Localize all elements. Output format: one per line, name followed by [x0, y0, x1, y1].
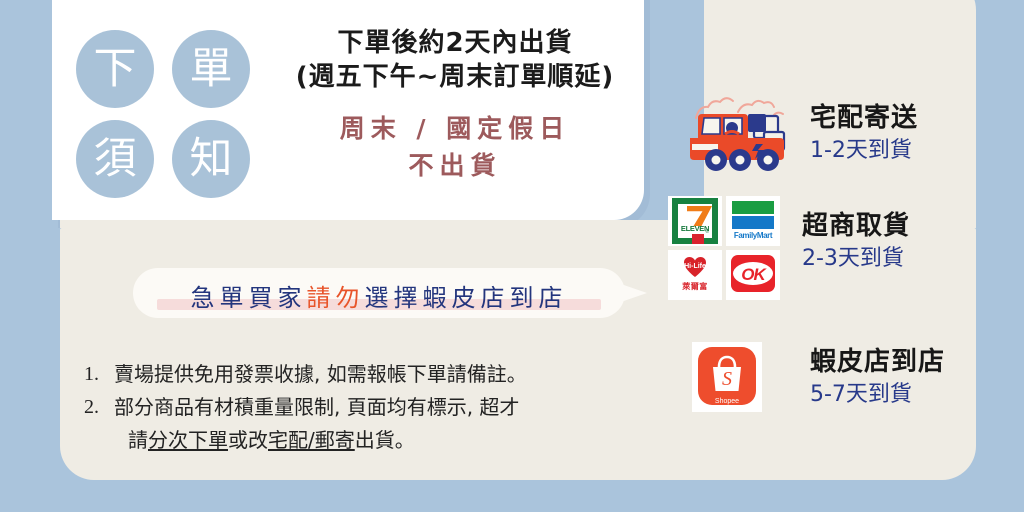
familymart-logo: FamilyMart	[726, 196, 780, 246]
okmart-wordmark: OK	[731, 265, 775, 285]
note-item-2: 2. 部分商品有材積重量限制, 頁面均有標示, 超才	[84, 391, 644, 424]
warning-line-1: 周末 / 國定假日	[280, 110, 630, 147]
okmart-logo: OK	[726, 250, 780, 300]
familymart-blue-bar	[732, 216, 774, 229]
note2-cont-middle: 或改	[228, 428, 268, 452]
badge-character-2: 單	[172, 30, 250, 108]
order-notes-list: 1. 賣場提供免用發票收據, 如需報帳下單請備註。 2. 部分商品有材積重量限制…	[84, 358, 644, 457]
note2-link-home-delivery[interactable]: 宅配/郵寄	[268, 428, 355, 452]
banner-text-before: 急單買家	[191, 284, 307, 312]
shopee-pickup-text: 蝦皮店到店 5-7天到貨	[810, 346, 945, 410]
home-delivery-title: 宅配寄送	[810, 102, 918, 135]
banner-text: 急單買家請勿選擇蝦皮店到店	[133, 278, 625, 313]
note-text-2-continued: 請分次下單或改宅配/郵寄出貨。	[128, 424, 644, 457]
warning-line-2: 不出貨	[280, 147, 630, 184]
badge-character-4: 知	[172, 120, 250, 198]
familymart-wordmark: FamilyMart	[726, 231, 780, 240]
home-delivery-eta: 1-2天到貨	[810, 135, 918, 166]
hilife-chinese-name: 萊爾富	[668, 281, 722, 292]
badge-character-1: 下	[76, 30, 154, 108]
badge-character-3: 須	[76, 120, 154, 198]
note2-cont-suffix: 出貨。	[355, 428, 415, 452]
headline-line-2: (週五下午~周末訂單順延)	[280, 60, 630, 94]
store-pickup-text: 超商取貨 2-3天到貨	[802, 210, 910, 274]
seven-eleven-red-foot	[692, 234, 704, 244]
beige-card-left-extension	[60, 220, 704, 228]
order-notice-badges: 下 單 須 知	[76, 30, 270, 190]
headline-line-1: 下單後約2天內出貨	[280, 26, 630, 60]
seven-eleven-registered-mark: ®	[705, 229, 709, 235]
shipping-option-home-delivery: 宅配寄送 1-2天到貨	[676, 88, 918, 180]
hilife-logo: Hi-Life 萊爾富	[668, 250, 722, 300]
svg-text:S: S	[722, 368, 732, 390]
store-logo-grid: ELEVEN ® FamilyMart Hi-Life 萊爾富	[668, 196, 784, 304]
holiday-warning: 周末 / 國定假日 不出貨	[280, 110, 630, 184]
banner-text-emphasis: 請勿	[307, 284, 365, 312]
shipping-option-store-pickup: ELEVEN ® FamilyMart Hi-Life 萊爾富	[668, 196, 910, 288]
okmart-red-square: OK	[731, 255, 775, 292]
note-text-1: 賣場提供免用發票收據, 如需報帳下單請備註。	[114, 358, 644, 391]
note2-cont-prefix: 請	[128, 428, 148, 452]
note2-link-split-order[interactable]: 分次下單	[148, 428, 228, 452]
delivery-truck-svg	[676, 88, 796, 180]
store-pickup-eta: 2-3天到貨	[802, 243, 910, 274]
shopee-icon: S	[698, 347, 756, 405]
note-item-1: 1. 賣場提供免用發票收據, 如需報帳下單請備註。	[84, 358, 644, 391]
seven-eleven-numeral	[687, 206, 712, 226]
shopee-bag-svg: S	[698, 347, 756, 405]
shopee-pickup-title: 蝦皮店到店	[810, 346, 945, 379]
note-text-2: 部分商品有材積重量限制, 頁面均有標示, 超才	[114, 391, 644, 424]
shopee-pickup-eta: 5-7天到貨	[810, 379, 945, 410]
seven-eleven-inner: ELEVEN ®	[678, 204, 712, 238]
store-pickup-title: 超商取貨	[802, 210, 910, 243]
shipping-headline: 下單後約2天內出貨 (週五下午~周末訂單順延) 周末 / 國定假日 不出貨	[280, 26, 630, 184]
home-delivery-text: 宅配寄送 1-2天到貨	[810, 102, 918, 166]
seven-eleven-logo: ELEVEN ®	[668, 196, 722, 246]
hilife-wordmark: Hi-Life	[668, 263, 722, 270]
seven-eleven-frame: ELEVEN ®	[672, 198, 718, 244]
shopee-logo-tile: S Shopee	[692, 342, 762, 412]
delivery-truck-icon	[676, 88, 796, 180]
urgent-order-banner: 急單買家請勿選擇蝦皮店到店	[133, 268, 625, 318]
shipping-option-shopee-pickup: S Shopee 蝦皮店到店 5-7天到貨	[676, 332, 945, 424]
familymart-green-bar	[732, 201, 774, 214]
banner-text-after: 選擇蝦皮店到店	[365, 284, 568, 312]
shopee-wordmark: Shopee	[692, 398, 762, 405]
note-number-2: 2.	[84, 391, 114, 424]
convenience-store-logos: ELEVEN ® FamilyMart Hi-Life 萊爾富	[668, 196, 788, 288]
note-number-1: 1.	[84, 358, 114, 391]
shopee-logo: S Shopee	[676, 332, 796, 424]
